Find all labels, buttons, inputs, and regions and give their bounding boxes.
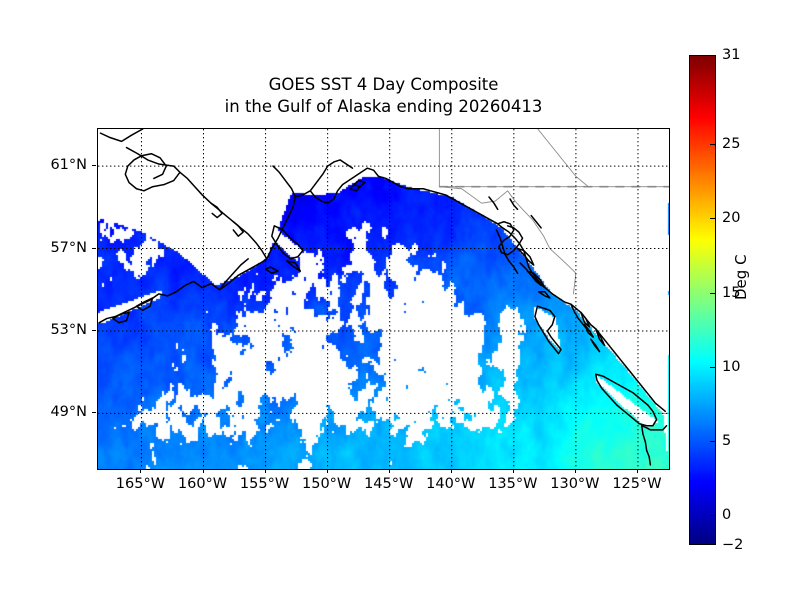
x-tickmark [637,469,638,473]
colorbar-tickmark [710,218,716,219]
x-tickmark [327,469,328,473]
colorbar-tick-label: 0 [722,507,731,523]
colorbar-tick-label: 10 [722,359,740,375]
x-tickmark [203,469,204,473]
x-tick-label: 165°W [116,476,165,492]
x-tick-label: 160°W [178,476,227,492]
x-tick-label: 125°W [612,476,661,492]
x-tick-label: 150°W [302,476,351,492]
y-tick-label: 61°N [35,157,87,173]
y-tickmark [92,248,96,249]
x-tickmark [140,469,141,473]
y-tickmark [92,330,96,331]
y-tick-label: 53°N [35,322,87,338]
colorbar-tickmark [710,144,716,145]
colorbar-axis-label: Deg C [732,254,750,300]
x-tickmark [513,469,514,473]
chart-title-line1: GOES SST 4 Day Composite [97,74,670,96]
x-tickmark [575,469,576,473]
colorbar [689,55,716,545]
y-tick-label: 49°N [35,404,87,420]
x-tick-label: 135°W [488,476,537,492]
colorbar-tick-label: 31 [722,47,740,63]
x-tickmark [451,469,452,473]
colorbar-tickmark [710,441,716,442]
colorbar-gradient [690,56,715,544]
map-plot-area [97,128,670,470]
x-tick-label: 130°W [550,476,599,492]
y-tick-label: 57°N [35,240,87,256]
colorbar-tickmark [710,293,716,294]
x-tick-label: 155°W [240,476,289,492]
colorbar-tick-label: 25 [722,136,740,152]
colorbar-tick-label: −2 [722,537,743,553]
x-tickmark [265,469,266,473]
map-gridlines [98,129,669,469]
x-tickmark [389,469,390,473]
x-tick-label: 145°W [364,476,413,492]
chart-title-line2: in the Gulf of Alaska ending 20260413 [97,96,670,118]
colorbar-tickmark [710,515,716,516]
y-tickmark [92,412,96,413]
colorbar-tickmark [710,367,716,368]
y-tickmark [92,165,96,166]
colorbar-tick-label: 20 [722,210,740,226]
x-tick-label: 140°W [426,476,475,492]
colorbar-tick-label: 5 [722,433,731,449]
sst-figure: GOES SST 4 Day Composite in the Gulf of … [0,0,800,600]
chart-title: GOES SST 4 Day Composite in the Gulf of … [97,74,670,118]
